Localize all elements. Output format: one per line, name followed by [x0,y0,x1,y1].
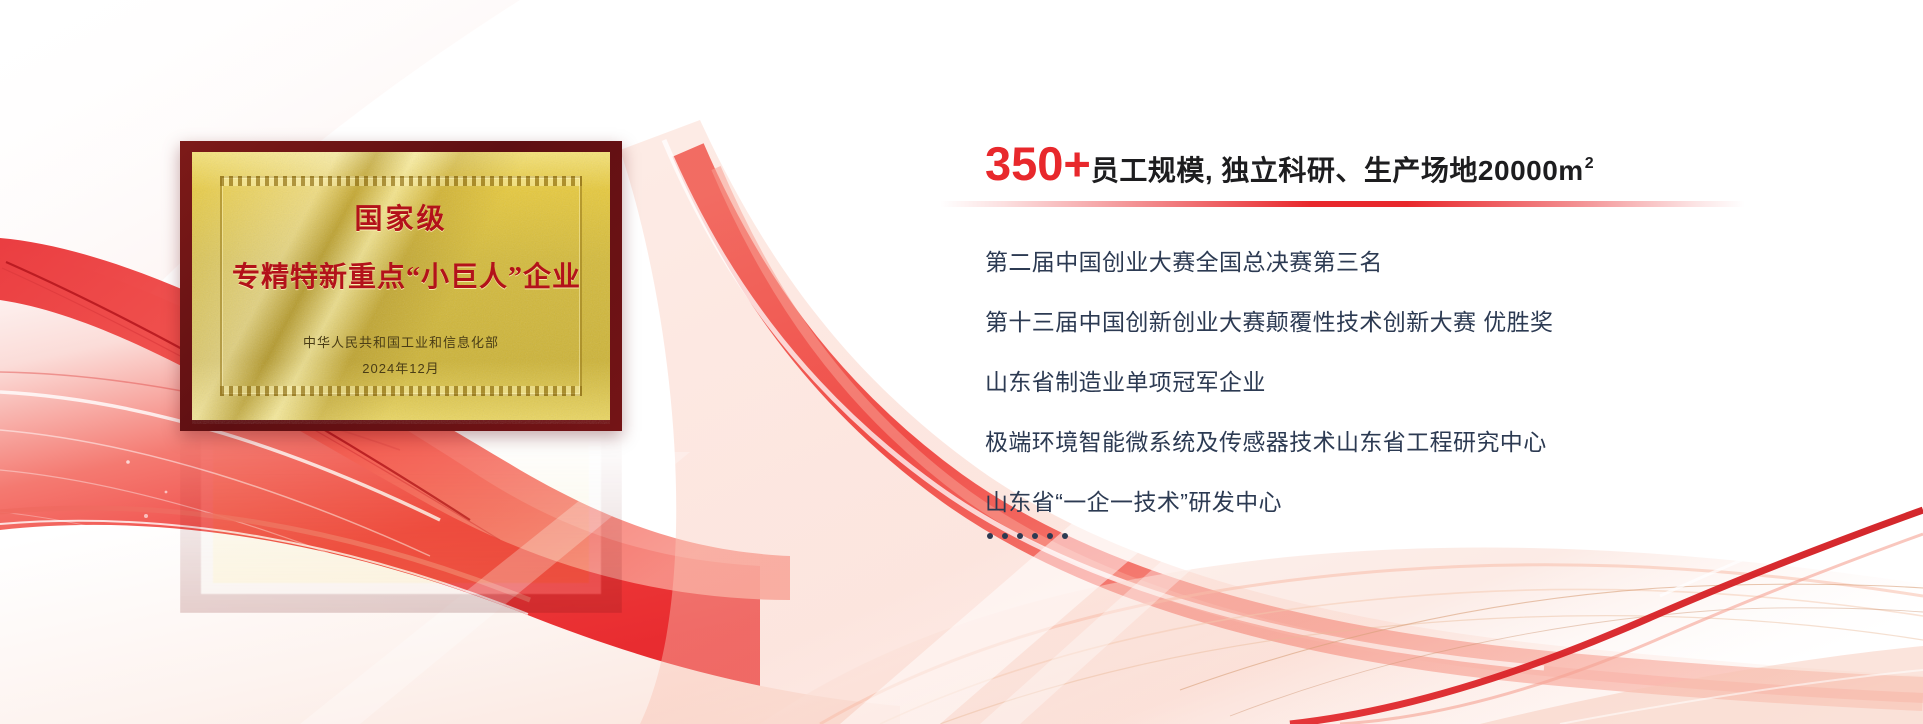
list-item: 第十三届中国创新创业大赛颠覆性技术创新大赛 优胜奖 [985,311,1845,334]
list-item: 极端环境智能微系统及传感器技术山东省工程研究中心 [985,431,1845,454]
ellipsis-dot [1002,533,1008,539]
list-item: 第二届中国创业大赛全国总决赛第三名 [985,251,1845,274]
awards-list: 第二届中国创业大赛全国总决赛第三名 第十三届中国创新创业大赛颠覆性技术创新大赛 … [985,251,1845,539]
award-plaque: 国家级 专精特新重点“小巨人”企业 中华人民共和国工业和信息化部 2024年12… [180,141,622,431]
ellipsis-dot [1062,533,1068,539]
reflection-gold-plate [213,433,589,583]
promotional-banner: 国家级 专精特新重点“小巨人”企业 中华人民共和国工业和信息化部 2024年12… [0,0,1923,724]
plaque-title-line2: 专精特新重点“小巨人”企业 [232,255,570,295]
list-item: 山东省“一企一技术”研发中心 [985,491,1845,514]
reflection-silver-border [201,433,601,594]
plaque-gold-plate: 国家级 专精特新重点“小巨人”企业 中华人民共和国工业和信息化部 2024年12… [192,152,610,420]
reflection-frame [180,433,622,613]
headline-underline [940,201,1745,207]
ellipsis-dot [1047,533,1053,539]
ellipsis-dot [1017,533,1023,539]
headline-superscript: 2 [1585,155,1594,173]
plaque-title-line1: 国家级 [232,202,570,237]
plaque-issuer: 中华人民共和国工业和信息化部 [232,332,570,351]
ellipsis-dot [987,533,993,539]
plaque-date: 2024年12月 [232,358,570,377]
ellipsis-dots [987,533,1845,539]
plaque-fret-top [220,176,582,186]
ellipsis-dot [1032,533,1038,539]
headline: 350+ 员工规模, 独立科研、生产场地20000m 2 [985,140,1845,187]
headline-text: 员工规模, 独立科研、生产场地20000m [1091,157,1584,185]
headline-number: 350+ [985,140,1091,187]
plaque-title-block: 国家级 专精特新重点“小巨人”企业 [232,202,570,295]
plaque-reflection [180,433,622,613]
content-column: 350+ 员工规模, 独立科研、生产场地20000m 2 第二届中国创业大赛全国… [985,140,1845,539]
list-item: 山东省制造业单项冠军企业 [985,371,1845,394]
plaque-fret-bottom [220,386,582,396]
